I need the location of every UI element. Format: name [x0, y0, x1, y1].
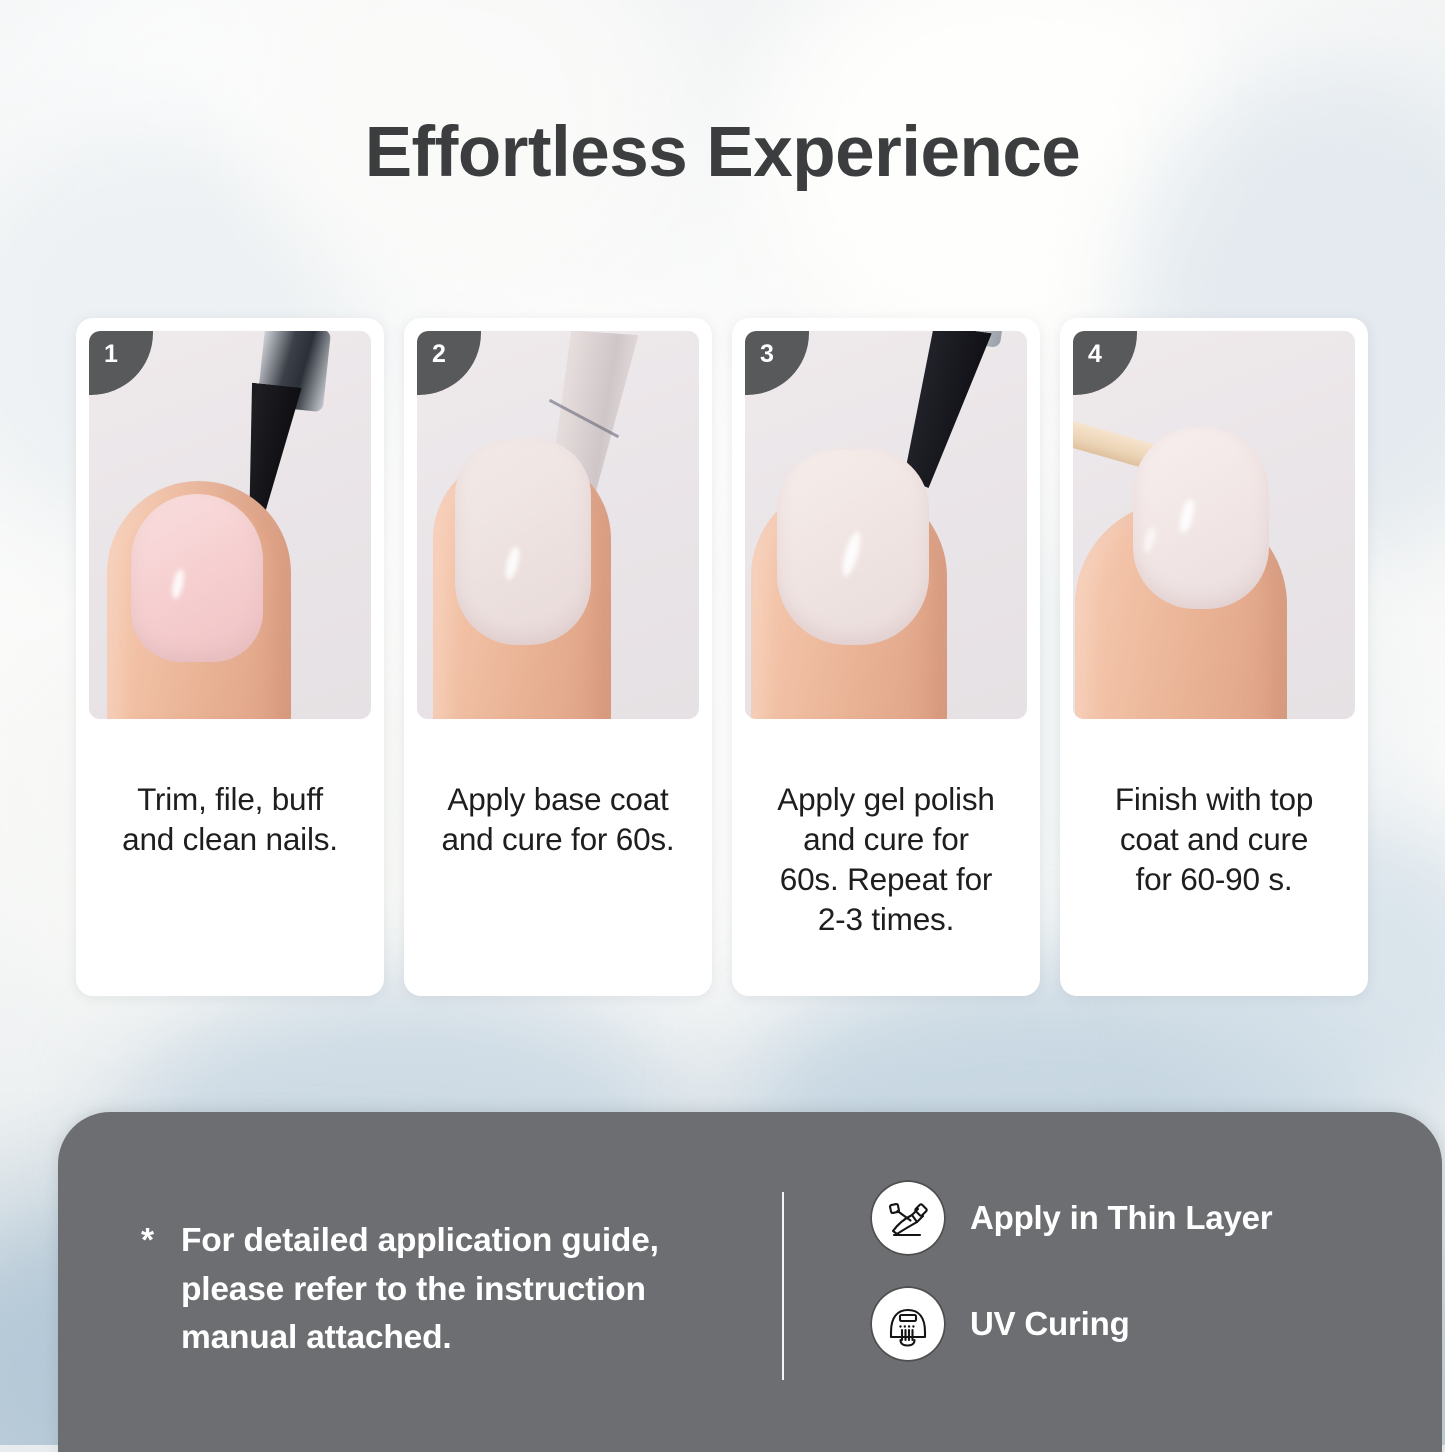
feature-uv-curing: UV Curing: [870, 1286, 1272, 1362]
nail-scene-3: [745, 331, 1027, 719]
footer-note: * For detailed application guide, please…: [141, 1217, 741, 1363]
nail-scene-1: [89, 331, 371, 719]
brush-thin-layer-icon: [870, 1180, 946, 1256]
step-card-3: 3 Apply gel polish and cure for 60s. Rep…: [732, 318, 1040, 996]
footer-panel: * For detailed application guide, please…: [58, 1112, 1442, 1452]
step-photo-2: 2: [417, 331, 699, 719]
footer-divider: [782, 1192, 784, 1380]
footer-note-text: For detailed application guide, please r…: [141, 1217, 741, 1363]
page-title: Effortless Experience: [0, 117, 1445, 188]
uv-lamp-icon: [870, 1286, 946, 1362]
nail-scene-4: [1073, 331, 1355, 719]
footer-feature-list: Apply in Thin Layer: [870, 1180, 1272, 1362]
step-photo-3: 3: [745, 331, 1027, 719]
step-number-3: 3: [760, 342, 774, 367]
step-caption-3: Apply gel polish and cure for 60s. Repea…: [745, 719, 1027, 996]
feature-label-uv-curing: UV Curing: [970, 1305, 1130, 1343]
feature-apply-thin-layer: Apply in Thin Layer: [870, 1180, 1272, 1256]
step-photo-1: 1: [89, 331, 371, 719]
asterisk-marker: *: [141, 1217, 154, 1266]
feature-label-thin-layer: Apply in Thin Layer: [970, 1199, 1272, 1237]
step-photo-4: 4: [1073, 331, 1355, 719]
step-card-1: 1 Trim, file, buff and clean nails.: [76, 318, 384, 996]
steps-row: 1 Trim, file, buff and clean nails. 2: [76, 318, 1368, 996]
step-number-4: 4: [1088, 342, 1102, 367]
step-number-2: 2: [432, 342, 446, 367]
step-card-2: 2 Apply base coat and cure for 60s.: [404, 318, 712, 996]
step-card-4: 4 Finish with top coat and cure for 60-9…: [1060, 318, 1368, 996]
step-caption-4: Finish with top coat and cure for 60-90 …: [1073, 719, 1355, 996]
nail-scene-2: [417, 331, 699, 719]
infographic-page: Effortless Experience 1 Trim, file, buf: [0, 0, 1445, 1445]
step-number-1: 1: [104, 342, 118, 367]
step-caption-1: Trim, file, buff and clean nails.: [89, 719, 371, 996]
step-caption-2: Apply base coat and cure for 60s.: [417, 719, 699, 996]
